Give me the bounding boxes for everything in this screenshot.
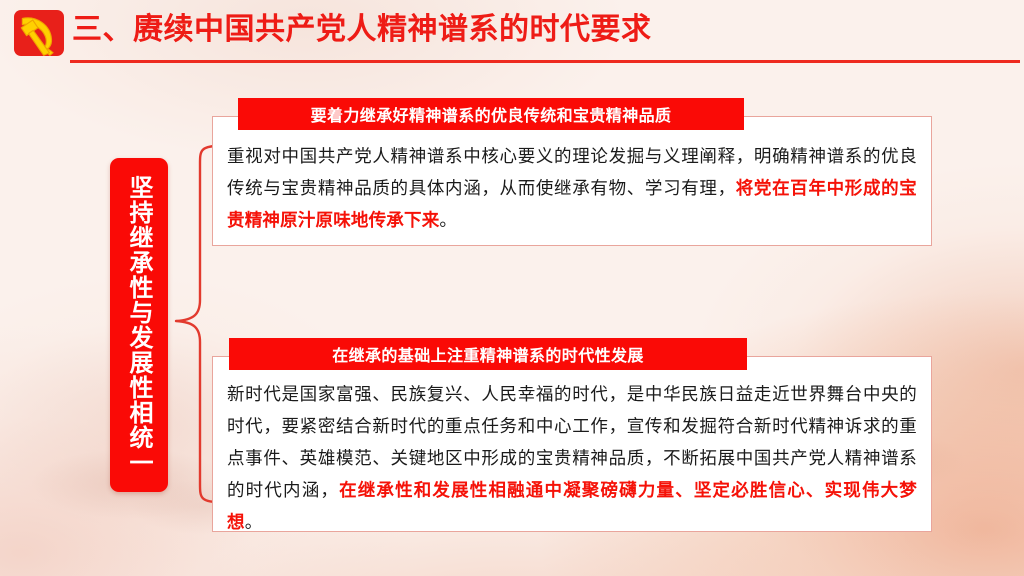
title-underline-rule xyxy=(70,60,1020,63)
content-card-1-body-plain-2: 。 xyxy=(439,211,457,231)
content-card-1-header: 要着力继承好精神谱系的优良传统和宝贵精神品质 xyxy=(238,98,744,130)
content-card-1-header-text: 要着力继承好精神谱系的优良传统和宝贵精神品质 xyxy=(311,102,672,126)
slide-canvas: 三、赓续中国共产党人精神谱系的时代要求 坚持继承性与发展性相统一 要着力继承好精… xyxy=(0,0,1024,576)
content-card-1-body: 重视对中国共产党人精神谱系中核心要义的理论发掘与义理阐释，明确精神谱系的优良传统… xyxy=(227,141,917,237)
content-card-2-body-plain-2: 。 xyxy=(245,513,263,533)
content-card-1: 要着力继承好精神谱系的优良传统和宝贵精神品质 重视对中国共产党人精神谱系中核心要… xyxy=(212,116,932,246)
content-card-2: 在继承的基础上注重精神谱系的时代性发展 新时代是国家富强、民族复兴、人民幸福的时… xyxy=(212,356,932,532)
page-title: 三、赓续中国共产党人精神谱系的时代要求 xyxy=(72,8,652,52)
party-emblem-hammer-sickle-icon xyxy=(14,10,64,56)
slide-header: 三、赓续中国共产党人精神谱系的时代要求 xyxy=(0,0,1024,70)
content-card-2-body: 新时代是国家富强、民族复兴、人民幸福的时代，是中华民族日益走近世界舞台中央的时代… xyxy=(227,379,917,539)
content-card-2-header: 在继承的基础上注重精神谱系的时代性发展 xyxy=(229,338,747,370)
content-card-2-header-text: 在继承的基础上注重精神谱系的时代性发展 xyxy=(332,342,644,366)
section-side-label-text: 坚持继承性与发展性相统一 xyxy=(126,175,152,475)
section-side-label: 坚持继承性与发展性相统一 xyxy=(110,158,168,492)
